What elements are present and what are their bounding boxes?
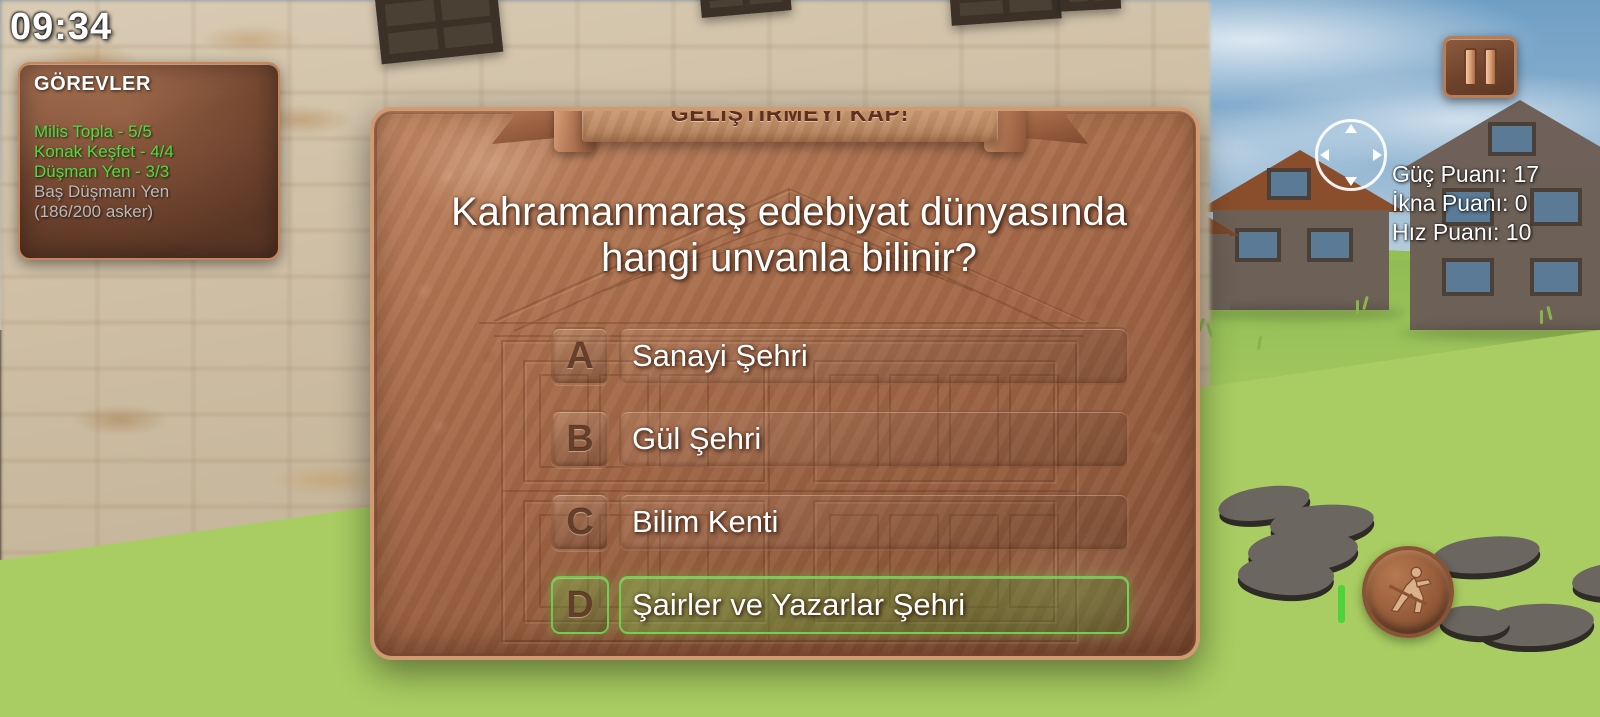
stats-panel: Güç Puanı: 17 İkna Puanı: 0 Hız Puanı: 1… <box>1392 160 1539 246</box>
pause-icon <box>1464 48 1477 86</box>
quests-panel: GÖREVLER Milis Topla - 5/5 Konak Keşfet … <box>18 62 280 260</box>
answer-options: A Sanayi Şehri B Gül Şehri C Bilim Kenti… <box>374 316 1200 648</box>
game-timer: 09:34 <box>10 6 112 49</box>
quest-item: Milis Topla - 5/5 <box>34 122 264 142</box>
stat-speed: Hız Puanı: 10 <box>1392 218 1539 247</box>
grass-tuft <box>1540 310 1543 324</box>
answer-option-c-letter: C <box>551 493 609 551</box>
answer-option-c[interactable]: C Bilim Kenti <box>374 482 1200 565</box>
answer-option-c-label: Bilim Kenti <box>632 493 778 551</box>
answer-option-b[interactable]: B Gül Şehri <box>374 399 1200 482</box>
quest-item: Baş Düşmanı Yen <box>34 182 264 202</box>
pause-button[interactable] <box>1443 36 1517 98</box>
question-text: Kahramanmaraş edebiyat dünyasında hangi … <box>414 189 1164 282</box>
answer-option-a-label: Sanayi Şehri <box>632 327 808 385</box>
quests-title: GÖREVLER <box>34 73 264 96</box>
quiz-panel: SORUYU BİL, KONAKTAN GELİŞTİRMEYİ KAP! K… <box>370 107 1200 660</box>
answer-option-d-label: Şairler ve Yazarlar Şehri <box>632 576 965 634</box>
answer-option-a[interactable]: A Sanayi Şehri <box>374 316 1200 399</box>
quest-item: (186/200 asker) <box>34 202 264 222</box>
dpad-compass-icon[interactable] <box>1315 119 1387 191</box>
quest-list: Milis Topla - 5/5 Konak Keşfet - 4/4 Düş… <box>34 122 264 222</box>
banner-line-2: GELİŞTİRMEYİ KAP! <box>671 107 910 127</box>
quest-item: Konak Keşfet - 4/4 <box>34 142 264 162</box>
grass-tuft <box>1356 300 1359 314</box>
quiz-banner: SORUYU BİL, KONAKTAN GELİŞTİRMEYİ KAP! <box>492 107 1088 153</box>
health-bar <box>1338 585 1345 623</box>
ribbon-body: SORUYU BİL, KONAKTAN GELİŞTİRMEYİ KAP! <box>582 107 998 142</box>
answer-option-d-letter: D <box>551 576 609 634</box>
quest-item: Düşman Yen - 3/3 <box>34 162 264 182</box>
game-screen: 09:34 GÖREVLER Milis Topla - 5/5 Konak K… <box>0 0 1600 717</box>
answer-option-b-letter: B <box>551 410 609 468</box>
answer-option-b-label: Gül Şehri <box>632 410 761 468</box>
stat-power: Güç Puanı: 17 <box>1392 160 1539 189</box>
answer-option-d[interactable]: D Şairler ve Yazarlar Şehri <box>374 565 1200 648</box>
stat-persuasion: İkna Puanı: 0 <box>1392 189 1539 218</box>
answer-option-a-letter: A <box>551 327 609 385</box>
pause-icon <box>1484 48 1497 86</box>
running-soldier-medallion-icon[interactable] <box>1362 546 1454 638</box>
